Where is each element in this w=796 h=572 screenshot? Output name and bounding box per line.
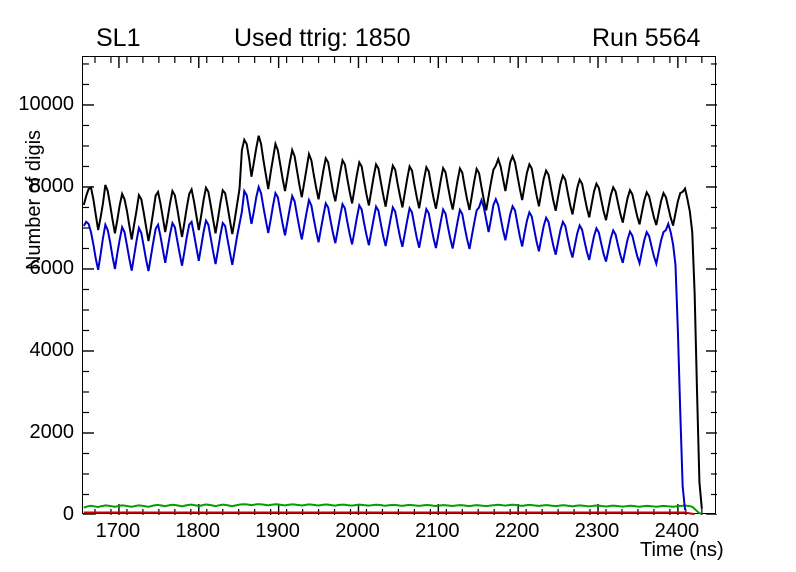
series-line-l4: [84, 187, 685, 510]
x-tick-label: 2000: [335, 521, 380, 541]
header-right: Run 5564: [592, 26, 700, 51]
x-tick-label: 2100: [415, 521, 460, 541]
y-tick-label: 6000: [30, 258, 75, 278]
y-tick-label: 10000: [18, 94, 74, 114]
series-line-l1: [84, 136, 702, 509]
x-tick-label: 1800: [176, 521, 221, 541]
x-tick-label: 1900: [255, 521, 300, 541]
x-tick-label: 1700: [96, 521, 141, 541]
x-tick-label: 2400: [655, 521, 700, 541]
y-tick-label: 0: [63, 504, 74, 524]
y-axis-label: Number of digis: [24, 120, 44, 280]
x-tick-label: 2200: [495, 521, 540, 541]
header-left: SL1: [96, 26, 140, 51]
y-tick-label: 4000: [30, 340, 75, 360]
y-tick-label: 8000: [30, 176, 75, 196]
x-tick-label: 2300: [575, 521, 620, 541]
header-title: Used ttrig: 1850: [234, 26, 411, 51]
x-axis-label: Time (ns): [640, 540, 724, 560]
plot-area: [82, 56, 716, 514]
chart-root: SL1 Used ttrig: 1850 Run 5564 Number of …: [0, 0, 796, 572]
y-tick-label: 2000: [30, 422, 75, 442]
plot-svg: [83, 57, 717, 515]
